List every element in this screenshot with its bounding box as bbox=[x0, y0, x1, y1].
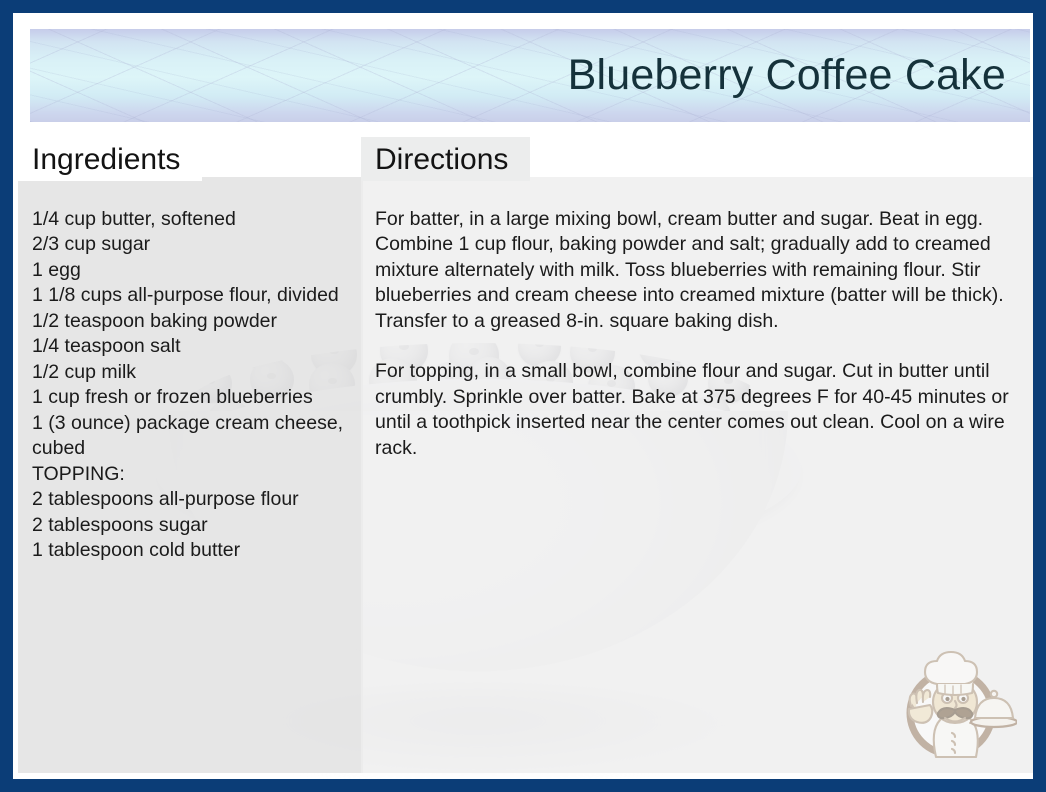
list-item: 1 tablespoon cold butter bbox=[32, 538, 347, 564]
list-item: 1/4 teaspoon salt bbox=[32, 334, 347, 360]
directions-paragraph: For batter, in a large mixing bowl, crea… bbox=[375, 207, 1017, 335]
directions-paragraph: For topping, in a small bowl, combine fl… bbox=[375, 359, 1017, 461]
directions-column: Directions For batter, in a large mixing… bbox=[361, 137, 1033, 773]
list-item: 1 (3 ounce) package cream cheese, cubed bbox=[32, 411, 347, 462]
list-item: 2 tablespoons sugar bbox=[32, 513, 347, 539]
ingredients-list: 1/4 cup butter, softened 2/3 cup sugar 1… bbox=[18, 177, 363, 773]
page-surface: Blueberry Coffee Cake Ingredients 1/4 cu… bbox=[13, 13, 1033, 779]
list-item: 1 cup fresh or frozen blueberries bbox=[32, 385, 347, 411]
list-item: 1/2 cup milk bbox=[32, 360, 347, 386]
page-title: Blueberry Coffee Cake bbox=[568, 51, 1030, 100]
list-item: 1/4 cup butter, softened bbox=[32, 207, 347, 233]
recipe-card: Blueberry Coffee Cake Ingredients 1/4 cu… bbox=[0, 0, 1046, 792]
list-item: 2/3 cup sugar bbox=[32, 232, 347, 258]
list-item: 1 egg bbox=[32, 258, 347, 284]
ingredients-column: Ingredients 1/4 cup butter, softened 2/3… bbox=[18, 137, 363, 773]
list-item: 1/2 teaspoon baking powder bbox=[32, 309, 347, 335]
list-item: TOPPING: bbox=[32, 462, 347, 488]
directions-text: For batter, in a large mixing bowl, crea… bbox=[361, 177, 1033, 773]
list-item: 1 1/8 cups all-purpose flour, divided bbox=[32, 283, 347, 309]
directions-heading: Directions bbox=[361, 137, 530, 181]
list-item: 2 tablespoons all-purpose flour bbox=[32, 487, 347, 513]
header-banner: Blueberry Coffee Cake bbox=[30, 29, 1030, 122]
ingredients-heading: Ingredients bbox=[18, 137, 202, 181]
